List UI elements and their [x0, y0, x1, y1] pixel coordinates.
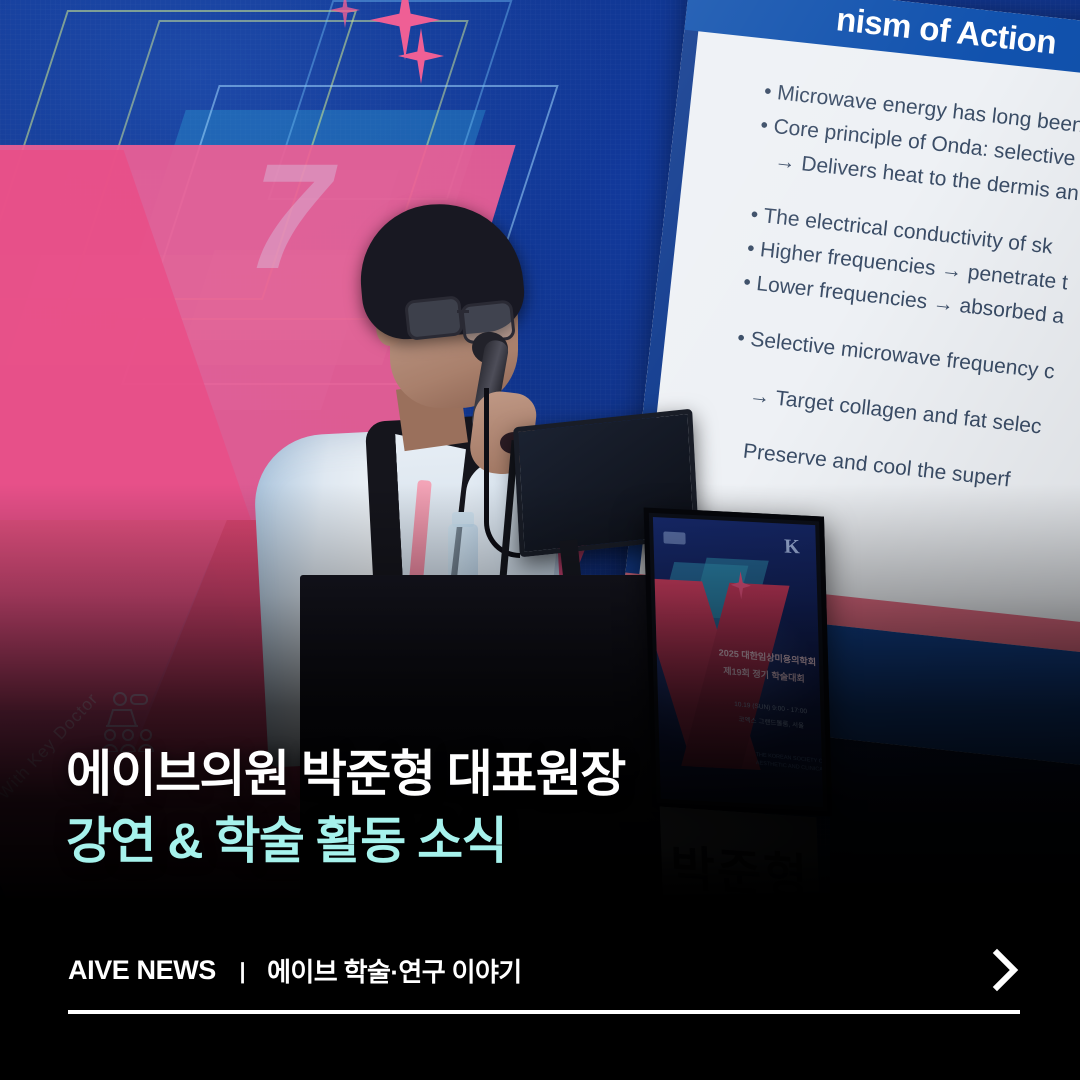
poster-society-logo: [663, 531, 685, 544]
page-title: 에이브의원 박준형 대표원장 강연 & 학술 활동 소식: [66, 748, 625, 868]
footer-subtitle: 에이브 학술·연구 이야기: [267, 952, 522, 989]
event-poster-easel: K 2025 대한임상미용의학회 제19회 정기 학술대회 10.19 (SUN…: [644, 507, 833, 816]
news-card: 7 With Key Doctor nism of Action: [0, 0, 1080, 1080]
headline-line-1: 에이브의원 박준형 대표원장: [66, 748, 625, 801]
glasses-icon: [404, 295, 464, 341]
slide-bullets: • Microwave energy has long been • Core …: [723, 75, 1080, 514]
headline-line-2: 강연 & 학술 활동 소식: [66, 815, 625, 868]
footer-brand: AIVE NEWS: [68, 955, 216, 986]
glasses-bridge: [457, 310, 469, 313]
footer-separator: ㅣ: [232, 954, 253, 988]
speaker-nameplate: 박준형: [660, 807, 820, 930]
podium-audience-icon: [100, 690, 174, 752]
nameplate-shadow: [660, 807, 820, 930]
poster-k-mark: K: [784, 536, 800, 560]
event-poster: K 2025 대한임상미용의학회 제19회 정기 학술대회 10.19 (SUN…: [653, 517, 823, 807]
footer-bar: AIVE NEWS ㅣ 에이브 학술·연구 이야기: [0, 930, 1080, 1080]
footer-row: AIVE NEWS ㅣ 에이브 학술·연구 이야기: [68, 952, 1020, 989]
footer-divider: [68, 1010, 1020, 1014]
chevron-right-icon[interactable]: [990, 948, 1020, 992]
